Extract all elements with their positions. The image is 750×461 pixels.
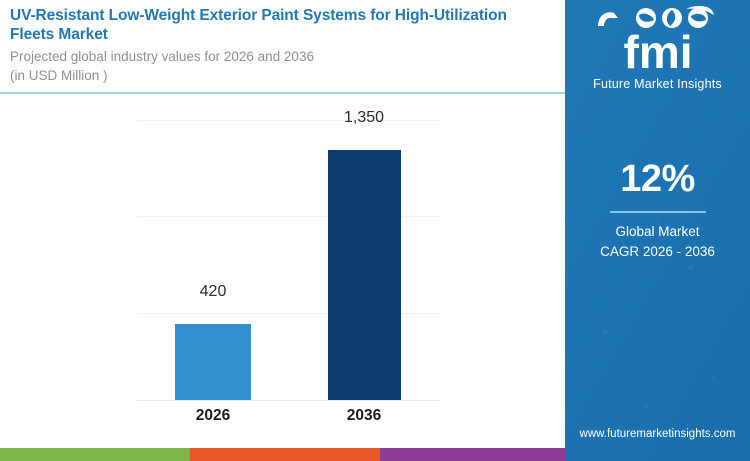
bar-2026 [175,324,251,400]
strip-segment-purple [380,448,565,461]
fmi-wordmark: fmi [590,30,726,76]
cagr-value: 12% [565,158,750,200]
strip-segment-green [0,448,190,461]
strip-segment-orange [190,448,380,461]
chart-subtitle: Projected global industry values for 202… [10,48,540,66]
cagr-divider [610,211,706,213]
chart-panel: UV-Resistant Low-Weight Exterior Paint S… [0,0,565,448]
cagr-caption-line2: CAGR 2026 - 2036 [565,242,750,262]
brand-sidebar: fmi Future Market Insights 12% Global Ma… [565,0,750,461]
logo-tagline: Future Market Insights [565,77,750,91]
bottom-color-strip [0,448,565,461]
header-divider [0,92,565,94]
chart-header: UV-Resistant Low-Weight Exterior Paint S… [10,6,540,85]
bar-2036 [328,150,401,400]
globe-icons [594,6,722,32]
website-url[interactable]: www.futuremarketinsights.com [565,428,750,440]
page-title: UV-Resistant Low-Weight Exterior Paint S… [10,6,540,44]
infographic-page: UV-Resistant Low-Weight Exterior Paint S… [0,0,750,461]
x-axis-baseline [137,400,440,401]
svg-text:fmi: fmi [623,30,692,76]
bar-chart-plot-area: 420 1,350 2026 2036 [0,100,565,430]
fmi-logo: fmi Future Market Insights [565,6,750,91]
cagr-caption-line1: Global Market [565,222,750,242]
x-axis-label-2026: 2026 [170,407,256,425]
x-axis-label-2036: 2036 [320,407,408,425]
bar-value-label-2026: 420 [175,283,251,301]
chart-units-label: (in USD Million ) [10,67,540,85]
bar-value-label-2036: 1,350 [325,109,403,127]
cagr-highlight: 12% Global Market CAGR 2026 - 2036 [565,158,750,262]
